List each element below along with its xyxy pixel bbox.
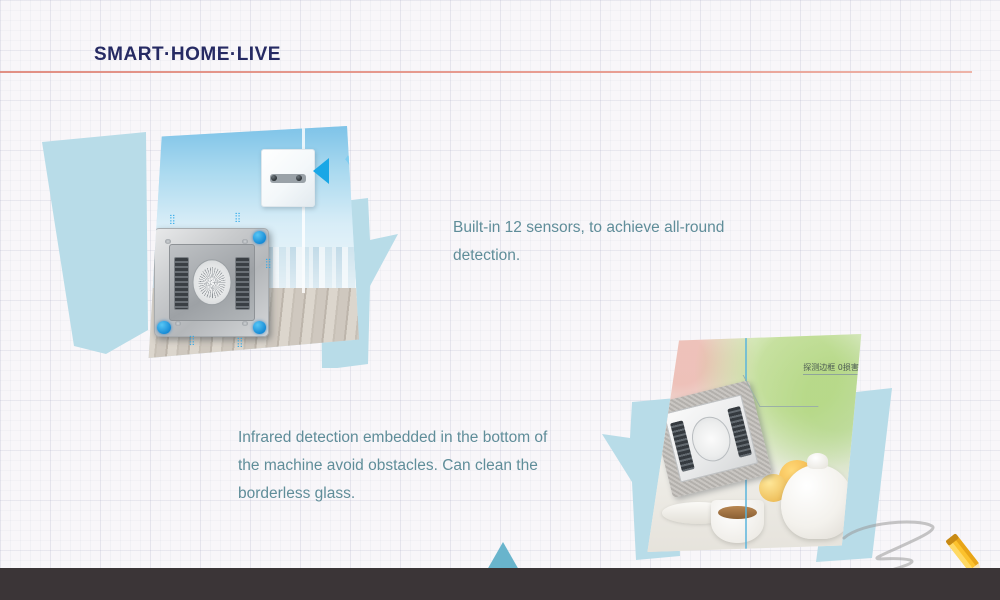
callout-top-left: ⦙⦙ ⦙⦙ ⦙⦙ ⦙⦙ ⦙⦙ (38, 118, 398, 368)
page-title: SMART·HOME·LIVE (94, 44, 281, 66)
robot2-fan-grille (687, 412, 734, 465)
robot-body-inner (169, 244, 255, 321)
window-cleaning-robot (154, 228, 269, 337)
robot-screw-br (242, 321, 248, 326)
ripple-icon-3: ⦙⦙ (265, 258, 271, 271)
robot-track-left (174, 257, 189, 310)
robot-fan-grille (192, 260, 231, 305)
coffee-cup (711, 500, 764, 544)
slide-canvas: SMART·HOME·LIVE (0, 0, 1000, 600)
robot-screw-tr (242, 239, 248, 244)
ripple-icon-2: ⦙⦙ (235, 212, 241, 225)
ripple-icon-1: ⦙⦙ (169, 214, 175, 227)
callout-text-top: Built-in 12 sensors, to achieve all-roun… (453, 214, 753, 270)
robot-screw-bl (175, 321, 181, 326)
wall-sensor-panel (261, 149, 315, 207)
annotation-label: 探测边框 0损害 (803, 362, 859, 375)
footer-bar (0, 568, 1000, 600)
callout-text-bottom: Infrared detection embedded in the botto… (238, 424, 548, 508)
robot-sensor-top-right (253, 231, 267, 244)
robot-sensor-bottom-right (253, 321, 267, 334)
ripple-icon-4: ⦙⦙ (189, 335, 195, 348)
robot-sensor-bottom-left (157, 321, 171, 334)
title-underline-rule (0, 71, 972, 73)
robot-track-right (235, 257, 250, 310)
robot-screw-tl (165, 239, 171, 244)
photo-robot-deck: ⦙⦙ ⦙⦙ ⦙⦙ ⦙⦙ ⦙⦙ (141, 126, 359, 358)
ripple-icon-5: ⦙⦙ (237, 337, 243, 350)
up-triangle-marker (487, 542, 519, 570)
